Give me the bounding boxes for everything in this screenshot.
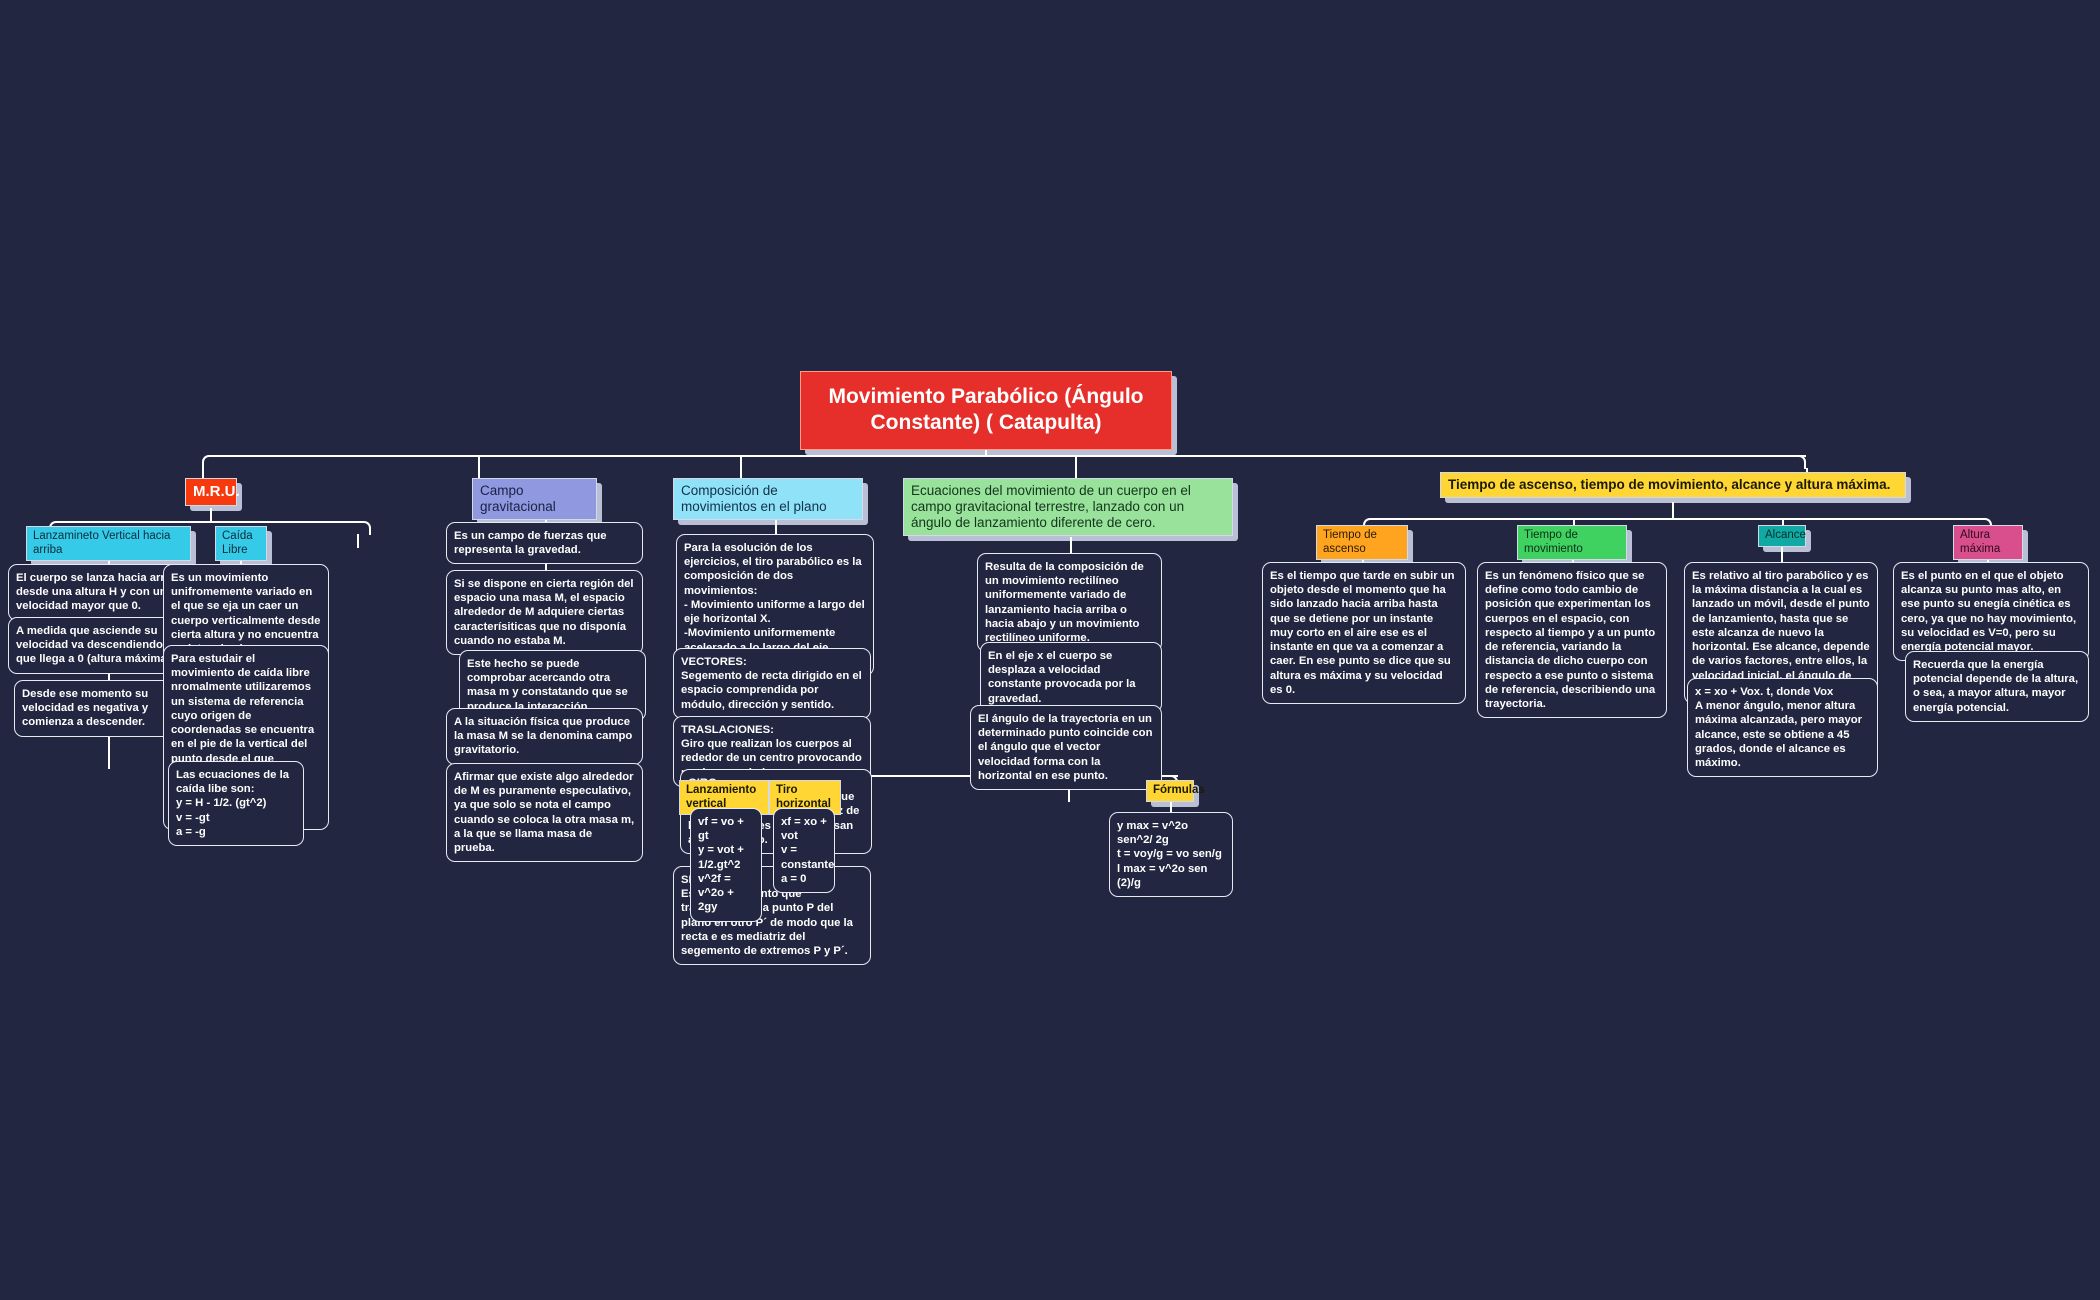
connector-tiempos-bus [1370, 518, 1985, 520]
node-caida-libre[interactable]: Caída Libre [215, 526, 267, 561]
mindmap-canvas: Movimiento Parabólico (Ángulo Constante)… [0, 0, 2100, 1300]
node-alcance[interactable]: Alcance [1758, 525, 1806, 547]
branch-mru[interactable]: M.R.U. [185, 478, 237, 506]
node-lanzamiento-vertical[interactable]: Lanzamineto Vertical hacia arriba [26, 526, 191, 561]
note-caida-3[interactable]: Las ecuaciones de la caída libe son: y =… [168, 761, 304, 846]
connector-main-bus [209, 455, 1806, 457]
note-altura-maxima-2[interactable]: Recuerda que la energía potencial depend… [1905, 651, 2089, 722]
note-tiempo-ascenso-1[interactable]: Es el tiempo que tarde en subir un objet… [1262, 562, 1466, 704]
formula-tiro-horizontal[interactable]: xf = xo + vot v = constante a = 0 [773, 808, 835, 893]
connector-mru-drop-2 [357, 534, 359, 548]
node-caida-libre-label: Caída Libre [215, 526, 267, 561]
connector-mru-bus [56, 521, 364, 523]
formula-lanzamiento-vertical[interactable]: vf = vo + gt y = vot + 1/2.gt^2 v^2f = v… [690, 808, 762, 922]
branch-tiempos[interactable]: Tiempo de ascenso, tiempo de movimiento,… [1440, 472, 1906, 498]
note-campo-1[interactable]: Es un campo de fuerzas que representa la… [446, 522, 643, 564]
connector-mru-stem [210, 508, 212, 522]
connector-tiempos-stem [1672, 502, 1674, 519]
note-ecuaciones-1[interactable]: Resulta de la composición de un movimien… [977, 553, 1162, 652]
note-campo-5[interactable]: Afirmar que existe algo alrededor de M e… [446, 763, 643, 862]
node-lanzamiento-vertical-label: Lanzamineto Vertical hacia arriba [26, 526, 191, 561]
connector-f-formula [1170, 802, 1172, 812]
note-tiempo-movimiento-1[interactable]: Es un fenómeno físico que se define como… [1477, 562, 1667, 718]
node-tiempo-ascenso[interactable]: Tiempo de ascenso [1316, 525, 1408, 560]
node-altura-maxima[interactable]: Altura máxima [1953, 525, 2023, 560]
branch-ecuaciones[interactable]: Ecuaciones del movimiento de un cuerpo e… [903, 478, 1233, 536]
root-title: Movimiento Parabólico (Ángulo Constante)… [800, 371, 1172, 450]
note-altura-maxima-1[interactable]: Es el punto en el que el objeto alcanza … [1893, 562, 2089, 661]
branch-campo-label: Campo gravitacional [472, 478, 597, 520]
node-tiempo-movimiento[interactable]: Tiempo de movimiento [1517, 525, 1627, 560]
note-composicion-2[interactable]: VECTORES: Segemento de recta dirigido en… [673, 648, 871, 719]
branch-mru-label: M.R.U. [185, 478, 237, 506]
connector-mru-corner-right [357, 521, 371, 535]
note-campo-4[interactable]: A la situación física que produce la mas… [446, 708, 643, 765]
note-campo-2[interactable]: Si se dispone en cierta región del espac… [446, 570, 643, 655]
connector-corner-left [202, 455, 216, 469]
formula-formulas[interactable]: y max = v^2o sen^2/ 2g t = voy/g = vo se… [1109, 812, 1233, 897]
note-alcance-2[interactable]: x = xo + Vox. t, donde Vox A menor ángul… [1687, 678, 1878, 777]
branch-campo-gravitacional[interactable]: Campo gravitacional [472, 478, 597, 520]
connector-corner-right [1792, 455, 1806, 469]
node-formulas-chip[interactable]: Fórmulas [1146, 780, 1194, 802]
branch-tiempos-label: Tiempo de ascenso, tiempo de movimiento,… [1440, 472, 1906, 498]
root-node[interactable]: Movimiento Parabólico (Ángulo Constante)… [800, 371, 1172, 450]
note-ecuaciones-2[interactable]: En el eje x el cuerpo se desplaza a velo… [980, 642, 1162, 713]
note-ecuaciones-3[interactable]: El ángulo de la trayectoria en un determ… [970, 705, 1162, 790]
branch-composicion[interactable]: Composición de movimientos en el plano [673, 478, 863, 520]
branch-ecuaciones-label: Ecuaciones del movimiento de un cuerpo e… [903, 478, 1233, 536]
branch-composicion-label: Composición de movimientos en el plano [673, 478, 863, 520]
